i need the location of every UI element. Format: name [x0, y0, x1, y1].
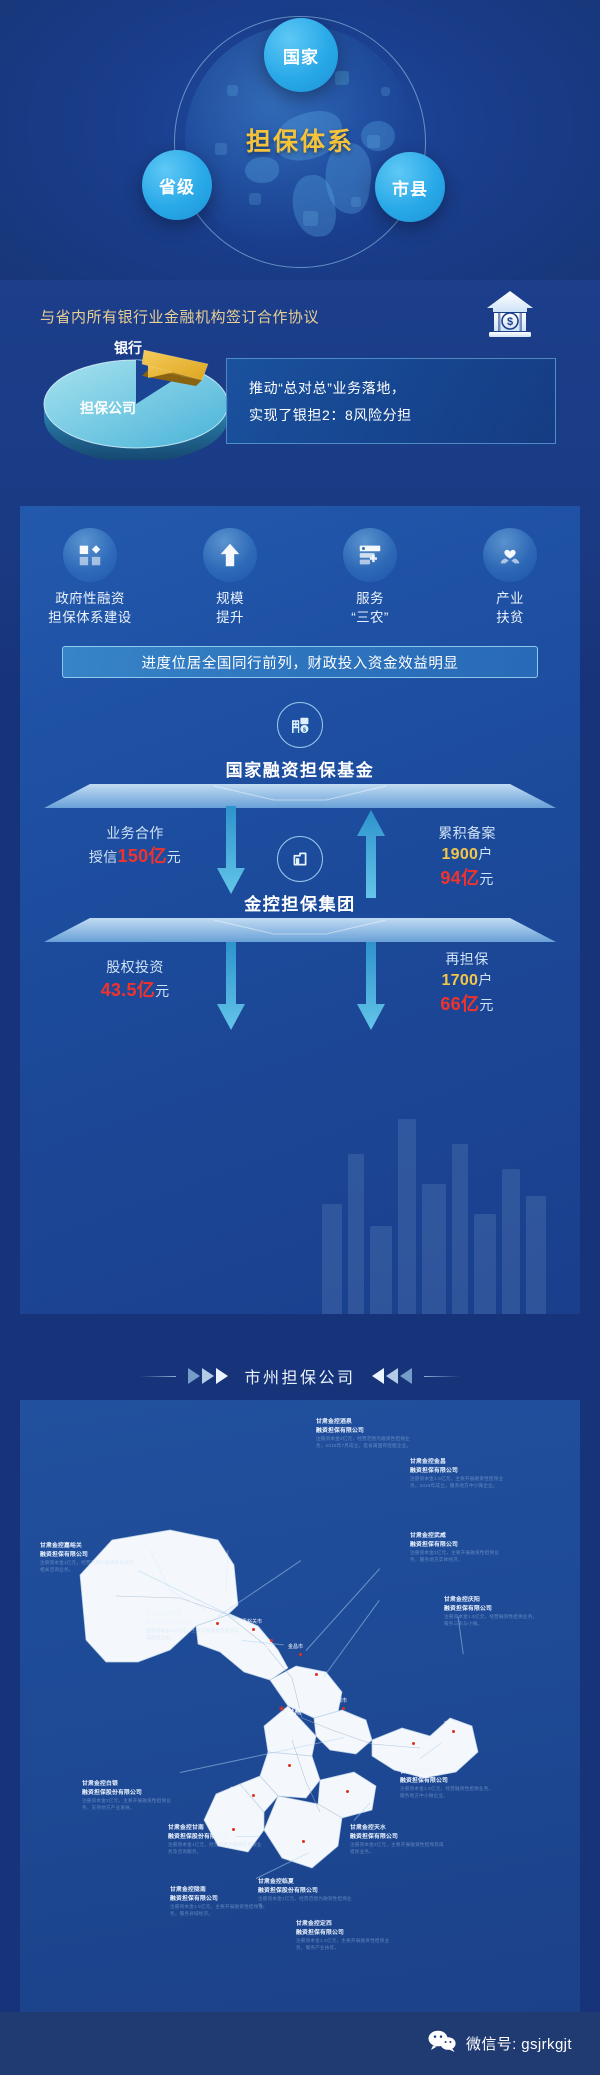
- company-name-line1: 甘肃金控酒泉: [316, 1418, 412, 1427]
- map-marker: [299, 1653, 302, 1656]
- map-marker: [270, 1639, 273, 1642]
- company-desc: 注册资本金2亿元，经营范围为融资性担保业务，2019年7月成立，是省属国有控股企…: [316, 1436, 412, 1449]
- chevron-right-icon: [186, 1366, 234, 1386]
- stat-title: 股权投资: [60, 958, 210, 978]
- company-name-line1: 甘肃金控白银: [82, 1780, 178, 1789]
- down-arrow-equity: [216, 942, 246, 1034]
- company-name-line1: 甘肃金控庆阳: [444, 1596, 540, 1605]
- heart-hands-icon: [483, 528, 537, 582]
- stat-cumulative-filing: 累积备案 1900户 94亿元: [392, 824, 542, 891]
- performance-card: 政府性融资 担保体系建设 规模 提升: [20, 506, 580, 1314]
- stat-unit: 元: [155, 983, 169, 999]
- map-city-label: 张掖市: [260, 1644, 275, 1651]
- fund-building-icon: $: [277, 702, 323, 748]
- map-company-callout[interactable]: 甘肃金控陇南 融资担保有限公司 注册资本金1.5亿元，主要开展融资性担保业务，服…: [170, 1886, 266, 1918]
- bank-dollar-icon: $: [484, 288, 536, 340]
- feature-label-line1: 规模: [216, 591, 244, 606]
- feature-label-line2: 担保体系建设: [48, 610, 131, 625]
- company-name-line1: 甘肃金控天水: [350, 1824, 446, 1833]
- company-desc: 注册资本金1.5亿元，主要开展融资性担保业务，服务县域经济。: [170, 1904, 266, 1917]
- hero-node-national[interactable]: 国家: [264, 18, 338, 92]
- map-company-callout[interactable]: 甘肃金控甘南 融资担保股份有限公司 注册资本金1亿元，经营范围为融资性担保业务及…: [168, 1824, 264, 1856]
- feature-item-scale-growth[interactable]: 规模 提升: [171, 528, 289, 627]
- company-name-line1: 甘肃金控平凉: [400, 1768, 496, 1777]
- group-icon: [277, 836, 323, 882]
- stat-reguarantee: 再担保 1700户 66亿元: [392, 950, 542, 1017]
- map-city-label: 平凉市: [402, 1732, 417, 1739]
- down-arrow-to-group: [216, 806, 246, 898]
- feature-label-line2: 提升: [216, 610, 244, 625]
- stat-unit-cn: 亿: [461, 994, 479, 1014]
- company-name-line2: 融资担保有限公司: [170, 1895, 266, 1904]
- header-rule-right: [424, 1376, 460, 1377]
- map-city-label: 武威市: [306, 1677, 321, 1684]
- company-name-line1: 甘肃金控陇南: [170, 1886, 266, 1895]
- server-icon: [343, 528, 397, 582]
- hero-node-provincial[interactable]: 省级: [142, 150, 212, 220]
- stat-value: 94: [440, 868, 461, 888]
- up-arrow-icon: [203, 528, 257, 582]
- company-name-line1: 甘肃金控张掖: [146, 1610, 242, 1619]
- company-name-line2: 融资担保有限公司: [146, 1619, 242, 1628]
- panel-line-1: 推动“总对总”业务落地，: [249, 378, 555, 398]
- highlight-ribbon: 进度位居全国同行前列，财政投入资金效益明显: [62, 646, 538, 678]
- capital-star-icon: ★: [278, 1705, 285, 1713]
- map-company-callout[interactable]: 甘肃金控张掖 融资担保有限公司 注册资本金1.8亿元，主要开展融资性担保与再担保…: [146, 1610, 242, 1642]
- map-marker: [288, 1764, 291, 1767]
- company-name-line1: 甘肃金控临夏: [258, 1878, 354, 1887]
- stat-title: 再担保: [392, 950, 542, 970]
- hero-node-label: 国家: [283, 43, 319, 68]
- pie-chart: 银行 担保公司: [36, 342, 236, 457]
- company-desc: 注册资本金1.8亿元，主要开展融资性担保与再担保业务。: [146, 1628, 242, 1641]
- map-city-label: 定西市: [278, 1768, 293, 1775]
- company-name-line1: 甘肃金控金昌: [410, 1458, 506, 1467]
- infographic-page: 国家 省级 市县 担保体系 与省内所有银行业金融机构签订合作协议 $: [0, 0, 600, 2075]
- platform-name-holding-group: 金控担保集团: [20, 890, 580, 915]
- up-arrow-to-fund: [356, 806, 386, 898]
- stat-count-unit: 户: [478, 972, 492, 988]
- company-name-line2: 融资担保股份有限公司: [168, 1833, 264, 1842]
- map-marker: [302, 1840, 305, 1843]
- feature-label-line1: 政府性融资: [55, 591, 125, 606]
- map-company-callout[interactable]: 甘肃金控临夏 融资担保股份有限公司 注册资本金1亿元，经营范围为融资性担保业务。: [258, 1878, 354, 1910]
- company-name-line2: 融资担保股份有限公司: [82, 1789, 178, 1798]
- company-name-line2: 融资担保股份有限公司: [258, 1887, 354, 1896]
- stat-title: 累积备案: [392, 824, 542, 844]
- wechat-id-label: 微信号: gsjrkgjt: [466, 2033, 572, 2054]
- map-city-label: 嘉峪关市: [242, 1618, 262, 1625]
- skyline-decoration: [322, 1104, 562, 1314]
- stat-count: 1900: [441, 846, 478, 863]
- company-name-line2: 融资担保有限公司: [296, 1929, 392, 1938]
- pie-slice-label-bank: 银行: [114, 338, 142, 358]
- map-company-callout[interactable]: 甘肃金控白银 融资担保股份有限公司 注册资本金2亿元，主要开展融资性担保业务，支…: [82, 1780, 178, 1812]
- map-city-label: 金昌市: [288, 1643, 303, 1650]
- map-city-label: 庆阳市: [444, 1720, 459, 1727]
- agreement-section: 与省内所有银行业金融机构签订合作协议 $: [0, 284, 600, 474]
- hero-node-label: 市县: [392, 175, 428, 200]
- platform-name-national-fund: 国家融资担保基金: [20, 756, 580, 781]
- stat-value: 43.5: [101, 980, 137, 1000]
- company-name-line2: 融资担保有限公司: [400, 1777, 496, 1786]
- feature-label-line2: “三农”: [351, 610, 389, 625]
- svg-text:$: $: [507, 316, 513, 328]
- stat-unit: 元: [479, 871, 493, 887]
- company-desc: 注册资本金2亿元，主要开展融资性担保业务，服务地方实体经济。: [410, 1550, 506, 1563]
- map-city-label: 天水市: [336, 1794, 351, 1801]
- company-desc: 注册资本金2亿元，主要开展融资性担保业务，支持地方产业发展。: [82, 1798, 178, 1811]
- stat-unit-cn: 亿: [148, 846, 166, 866]
- footer-bar: 微信号: gsjrkgjt: [0, 2012, 600, 2075]
- company-name-line2: 融资担保有限公司: [410, 1541, 506, 1550]
- map-marker: [342, 1707, 345, 1710]
- company-desc: 注册资本金1.5亿元，主要开展融资性担保业务，2019年成立，服务地方中小微企业…: [410, 1476, 506, 1489]
- pie-slice-label-guarantee: 担保公司: [80, 398, 136, 418]
- company-name-line1: 甘肃金控嘉峪关: [40, 1542, 136, 1551]
- stat-unit-cn: 亿: [461, 868, 479, 888]
- company-name-line1: 甘肃金控甘南: [168, 1824, 264, 1833]
- map-capital-label: 兰州: [288, 1706, 301, 1716]
- company-name-line1: 甘肃金控定西: [296, 1920, 392, 1929]
- section-title: 市州担保公司: [244, 1364, 355, 1388]
- feature-item-government-guarantee[interactable]: 政府性融资 担保体系建设: [31, 528, 149, 627]
- hero-section: 国家 省级 市县 担保体系: [0, 0, 600, 280]
- stat-equity-investment: 股权投资 43.5亿元: [60, 958, 210, 1003]
- hero-node-municipal[interactable]: 市县: [375, 152, 445, 222]
- panel-line-2: 实现了银担2：8风险分担: [249, 405, 555, 425]
- stat-value: 150: [118, 846, 149, 866]
- company-desc: 注册资本金1亿元，经营范围为融资性担保业务及咨询服务。: [168, 1842, 264, 1855]
- feature-label-line2: 扶贫: [496, 610, 524, 625]
- map-company-callout[interactable]: 甘肃金控定西 融资担保有限公司 注册资本金1.5亿元，主要开展融资性担保业务，服…: [296, 1920, 392, 1952]
- stat-unit: 元: [479, 997, 493, 1013]
- platform-slab-mid: [44, 918, 556, 944]
- company-desc: 注册资本金1.5亿元，经营融资性担保业务，服务地方中小微企业。: [400, 1786, 496, 1799]
- map-marker: [412, 1742, 415, 1745]
- map-marker: [252, 1794, 255, 1797]
- company-name-line2: 融资担保有限公司: [410, 1467, 506, 1476]
- map-city-label: 临夏州: [230, 1786, 245, 1793]
- header-rule-left: [140, 1376, 176, 1377]
- map-marker: [315, 1673, 318, 1676]
- hero-node-label: 省级: [159, 173, 195, 198]
- feature-item-agriculture-service[interactable]: 服务 “三农”: [311, 528, 429, 627]
- map-marker: [346, 1790, 349, 1793]
- stat-business-cooperation: 业务合作 授信150亿元: [60, 824, 210, 869]
- risk-sharing-panel: 推动“总对总”业务落地， 实现了银担2：8风险分担: [226, 358, 556, 444]
- company-name-line2: 融资担保有限公司: [350, 1833, 446, 1842]
- stat-title: 业务合作: [60, 824, 210, 844]
- section-header-city-companies: 市州担保公司: [0, 1356, 600, 1396]
- company-name-line2: 融资担保有限公司: [316, 1427, 412, 1436]
- map-city-label: 陇南市: [292, 1844, 307, 1851]
- company-name-line2: 融资担保有限公司: [444, 1605, 540, 1614]
- company-name-line2: 融资担保有限公司: [40, 1551, 136, 1560]
- wechat-icon: [427, 2029, 457, 2058]
- stat-value: 66: [440, 994, 461, 1014]
- map-company-callout[interactable]: 甘肃金控金昌 融资担保有限公司 注册资本金1.5亿元，主要开展融资性担保业务，2…: [410, 1458, 506, 1490]
- blocks-icon: [63, 528, 117, 582]
- company-desc: 注册资本金1.5亿元，主要开展融资性担保业务，服务产业扶贫。: [296, 1938, 392, 1951]
- page-title: 担保体系: [0, 122, 600, 158]
- agreement-headline: 与省内所有银行业金融机构签订合作协议: [40, 306, 319, 327]
- company-desc: 注册资本金1亿元，经营范围为融资性担保及相关咨询业务。: [40, 1560, 136, 1573]
- platform-slab-top: [44, 784, 556, 810]
- stat-unit-cn: 亿: [137, 980, 155, 1000]
- map-company-callout[interactable]: 甘肃金控武威 融资担保有限公司 注册资本金2亿元，主要开展融资性担保业务，服务地…: [410, 1532, 506, 1564]
- feature-label-line1: 产业: [496, 591, 524, 606]
- gansu-map-section: 酒泉市 嘉峪关市 张掖市 金昌市 武威市 白银市 ★ 兰州 定西市 天水市 平凉…: [20, 1400, 580, 2012]
- map-company-callout[interactable]: 甘肃金控酒泉 融资担保有限公司 注册资本金2亿元，经营范围为融资性担保业务，20…: [316, 1418, 412, 1450]
- map-marker: [452, 1730, 455, 1733]
- feature-item-industry-poverty-relief[interactable]: 产业 扶贫: [451, 528, 569, 627]
- stat-unit: 元: [167, 849, 181, 865]
- company-desc: 注册资本金1亿元，经营范围为融资性担保业务。: [258, 1896, 354, 1909]
- stat-prefix: 授信: [89, 849, 118, 865]
- feature-label-line1: 服务: [356, 591, 384, 606]
- map-company-callout[interactable]: 甘肃金控嘉峪关 融资担保有限公司 注册资本金1亿元，经营范围为融资性担保及相关咨…: [40, 1542, 136, 1574]
- map-company-callout[interactable]: 甘肃金控平凉 融资担保有限公司 注册资本金1.5亿元，经营融资性担保业务，服务地…: [400, 1768, 496, 1800]
- stat-count: 1700: [441, 972, 478, 989]
- feature-row: 政府性融资 担保体系建设 规模 提升: [20, 528, 580, 627]
- map-marker: [252, 1628, 255, 1631]
- chevron-left-icon: [366, 1366, 414, 1386]
- map-company-callout[interactable]: 甘肃金控天水 融资担保有限公司 注册资本金2亿元，主要开展融资性担保及再担保业务…: [350, 1824, 446, 1856]
- map-city-label: 白银市: [332, 1697, 347, 1704]
- down-arrow-reguarantee: [356, 942, 386, 1034]
- company-name-line1: 甘肃金控武威: [410, 1532, 506, 1541]
- stat-count-unit: 户: [478, 846, 492, 862]
- company-desc: 注册资本金2亿元，主要开展融资性担保及再担保业务。: [350, 1842, 446, 1855]
